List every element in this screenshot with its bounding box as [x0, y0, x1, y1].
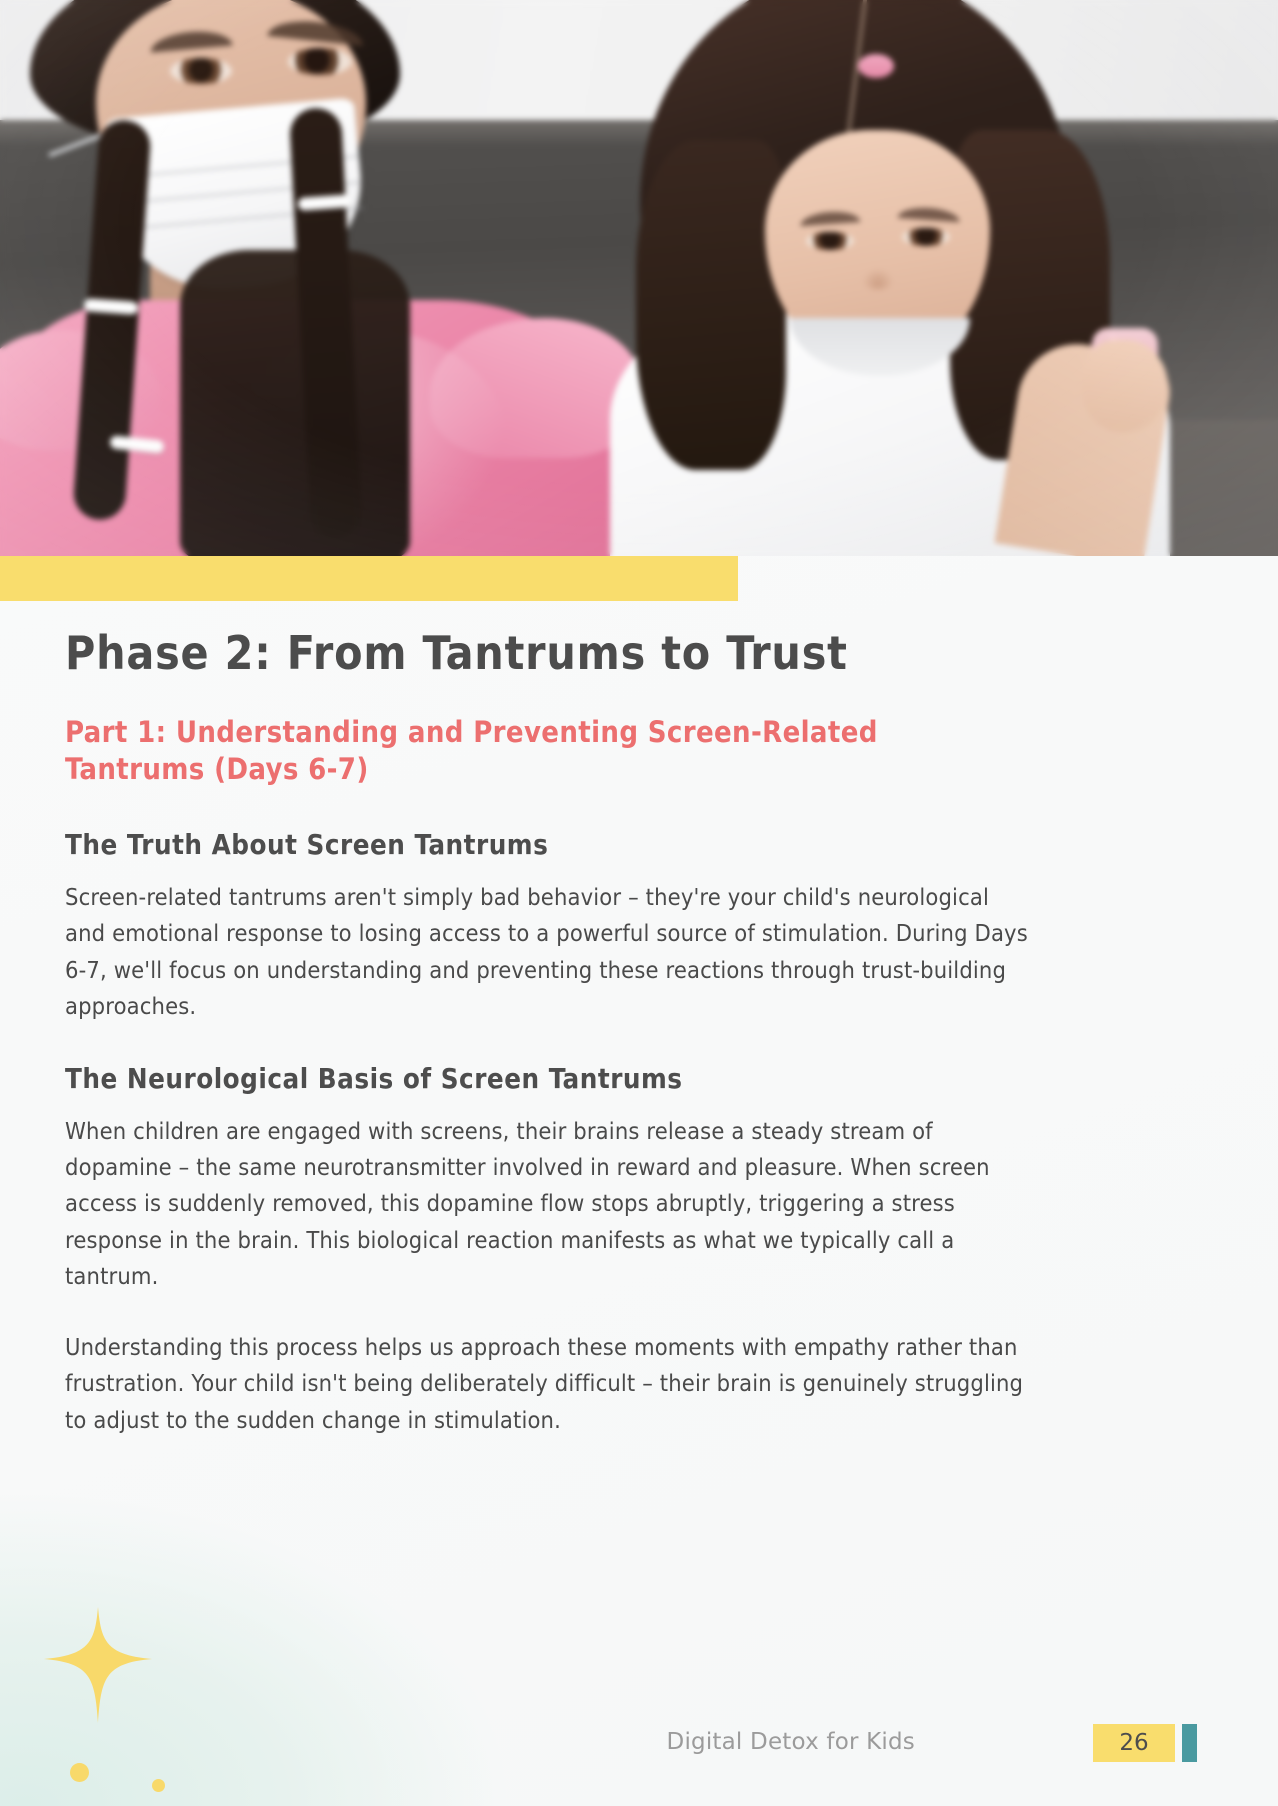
hero-photo — [0, 0, 1278, 556]
page-number-badge: 26 — [1093, 1724, 1175, 1762]
page-footer: Digital Detox for Kids 26 — [0, 1708, 1278, 1782]
yellow-accent-bar — [0, 556, 738, 601]
document-page: Phase 2: From Tantrums to Trust Part 1: … — [0, 0, 1278, 1806]
section-paragraph: When children are engaged with screens, … — [65, 1113, 1030, 1295]
page-subtitle: Part 1: Understanding and Preventing Scr… — [65, 714, 945, 789]
section-heading-truth-about-screen-tantrums: The Truth About Screen Tantrums — [65, 829, 1105, 861]
section-paragraph: Screen-related tantrums aren't simply ba… — [65, 879, 1030, 1025]
page-title: Phase 2: From Tantrums to Trust — [65, 628, 1105, 680]
four-pointed-star-icon — [44, 1607, 152, 1723]
photo-vignette — [0, 0, 1278, 556]
content-column: Phase 2: From Tantrums to Trust Part 1: … — [65, 628, 1105, 1438]
page-edge-tab — [1182, 1724, 1197, 1762]
section-heading-neurological-basis: The Neurological Basis of Screen Tantrum… — [65, 1063, 1105, 1095]
book-title-label: Digital Detox for Kids — [667, 1729, 915, 1755]
section-paragraph: Understanding this process helps us appr… — [65, 1329, 1030, 1438]
